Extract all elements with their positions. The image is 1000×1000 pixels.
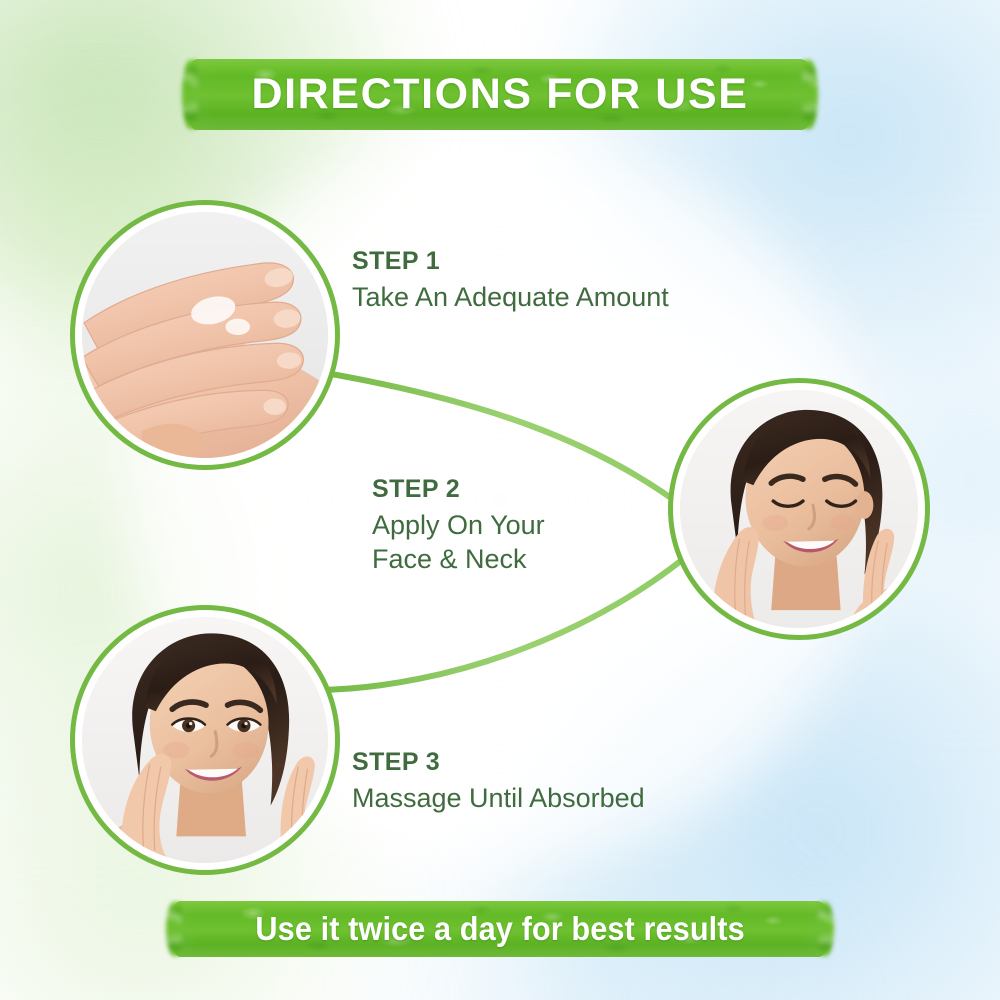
woman-applying-cream-illustration: [680, 390, 918, 628]
step-2-description-line-1: Apply On Your: [372, 508, 545, 542]
step-1-photo-circle: [70, 200, 340, 470]
hand-with-cream-illustration: [82, 212, 328, 458]
page-title: DIRECTIONS FOR USE: [251, 70, 748, 119]
step-2-description-line-2: Face & Neck: [372, 542, 545, 576]
title-banner: DIRECTIONS FOR USE: [191, 59, 809, 130]
step-2-photo-circle: [668, 378, 930, 640]
blue-wash-top-right: [570, 0, 1000, 370]
step-3-label: STEP 3: [352, 748, 645, 778]
directions-for-use-poster: DIRECTIONS FOR USE: [0, 0, 1000, 1000]
step-3-text-block: STEP 3 Massage Until Absorbed: [352, 748, 645, 815]
step-3-description: Massage Until Absorbed: [352, 781, 645, 815]
step-3-photo-circle: [70, 605, 340, 875]
step-3-photo: [82, 617, 328, 863]
woman-massaging-face-illustration: [82, 617, 328, 863]
step-2-photo: [680, 390, 918, 628]
step-1-description: Take An Adequate Amount: [352, 280, 669, 314]
footer-banner: Use it twice a day for best results: [175, 901, 825, 957]
footer-note: Use it twice a day for best results: [255, 910, 744, 948]
step-1-text-block: STEP 1 Take An Adequate Amount: [352, 247, 669, 314]
step-2-label: STEP 2: [372, 475, 545, 505]
step-1-label: STEP 1: [352, 247, 669, 277]
step-1-photo: [82, 212, 328, 458]
step-2-text-block: STEP 2 Apply On Your Face & Neck: [372, 475, 545, 576]
